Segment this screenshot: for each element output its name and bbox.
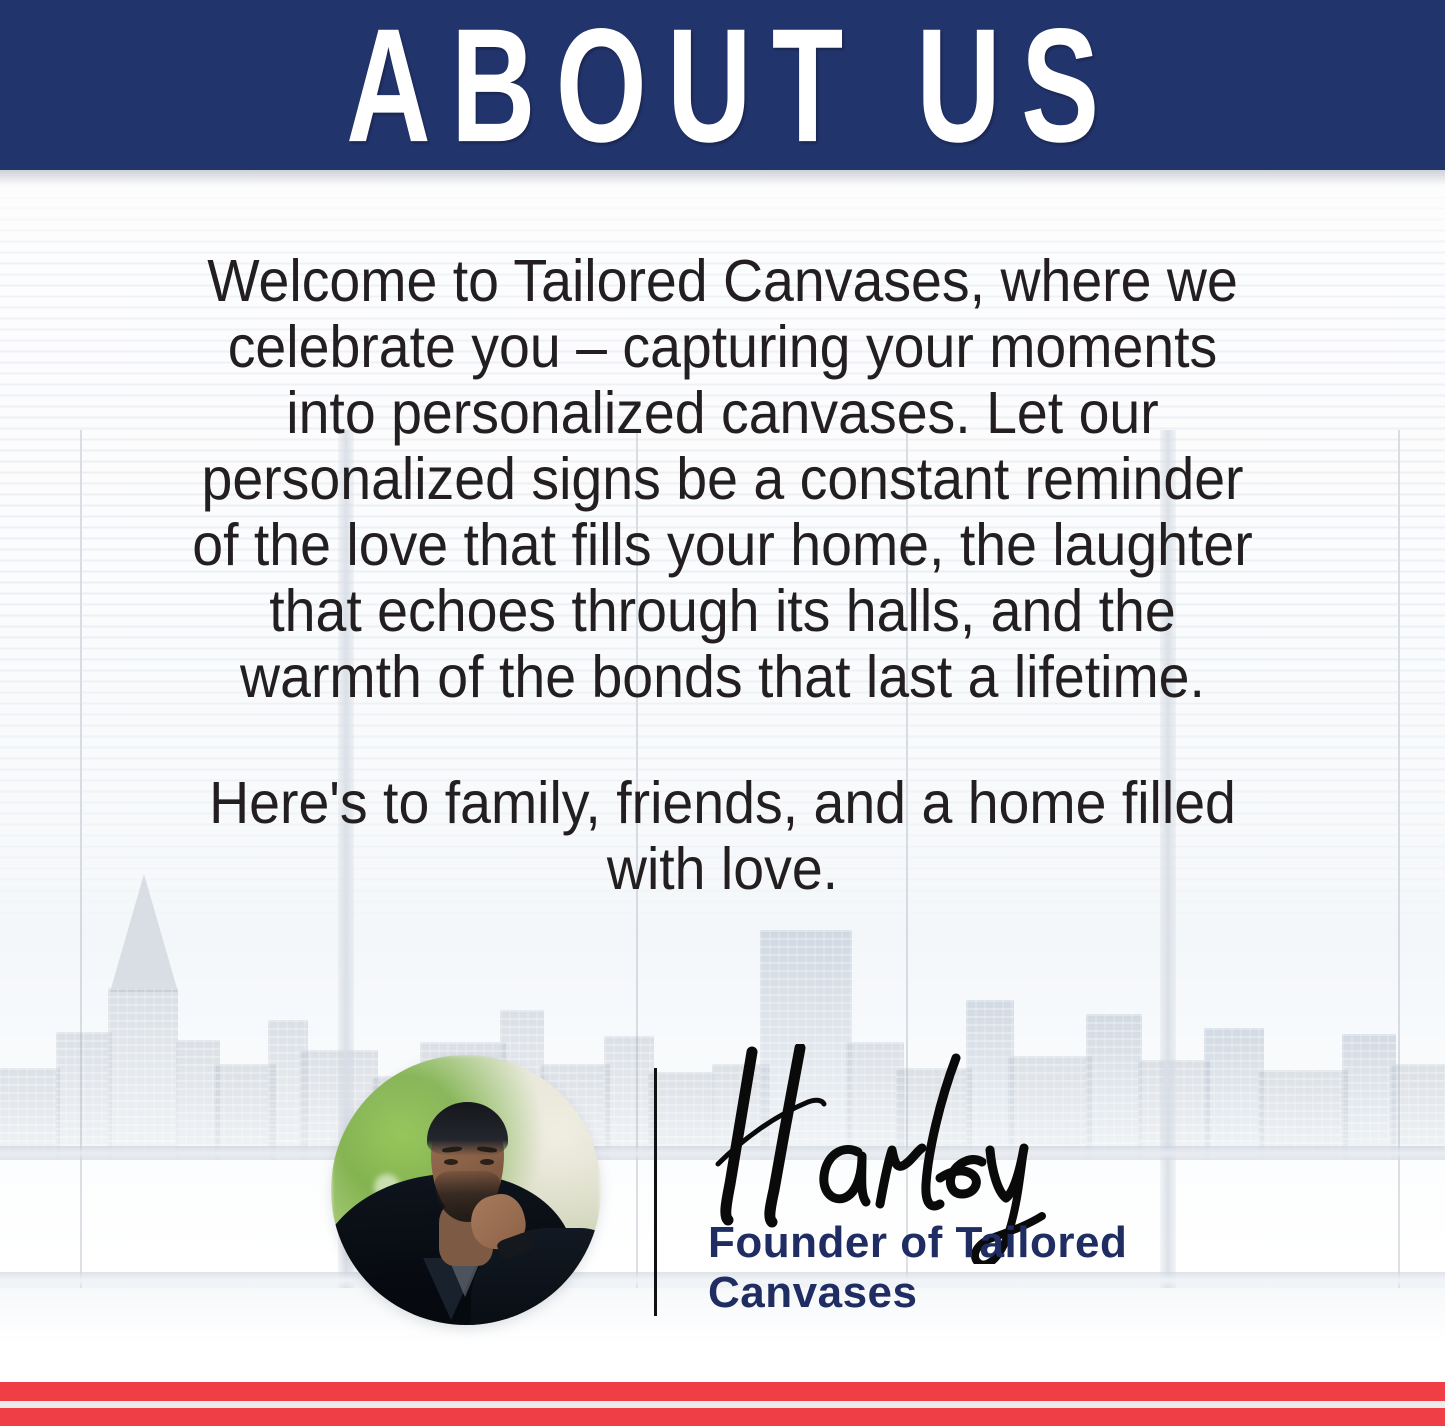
paragraph-2: Here's to family, friends, and a home fi… [184, 770, 1260, 902]
signature-block: Harley Founder of Tailored Canvases [0, 1050, 1445, 1340]
signature-divider [654, 1068, 657, 1316]
about-us-poster: ABOUT US Welcome to Tailored Canvases, w… [0, 0, 1445, 1426]
paragraph-1: Welcome to Tailored Canvases, where we c… [184, 248, 1260, 710]
founder-role-line-1: Founder of Tailored [708, 1218, 1178, 1268]
paragraph-spacer [150, 710, 1295, 770]
footer-stripe-top [0, 1382, 1445, 1401]
founder-role: Founder of Tailored Canvases [708, 1218, 1178, 1318]
founder-role-line-2: Canvases [708, 1268, 1178, 1318]
about-copy: Welcome to Tailored Canvases, where we c… [0, 248, 1445, 902]
avatar-portrait-illustration [331, 1055, 601, 1325]
footer-stripe-bottom [0, 1408, 1445, 1426]
footer-stripe-gap [0, 1401, 1445, 1408]
header-banner: ABOUT US [0, 0, 1445, 170]
page-title: ABOUT US [326, 4, 1120, 166]
founder-avatar [331, 1055, 601, 1325]
header-drop-shadow [0, 170, 1445, 186]
signature-text-group: Harley Founder of Tailored Canvases [690, 1050, 1210, 1340]
